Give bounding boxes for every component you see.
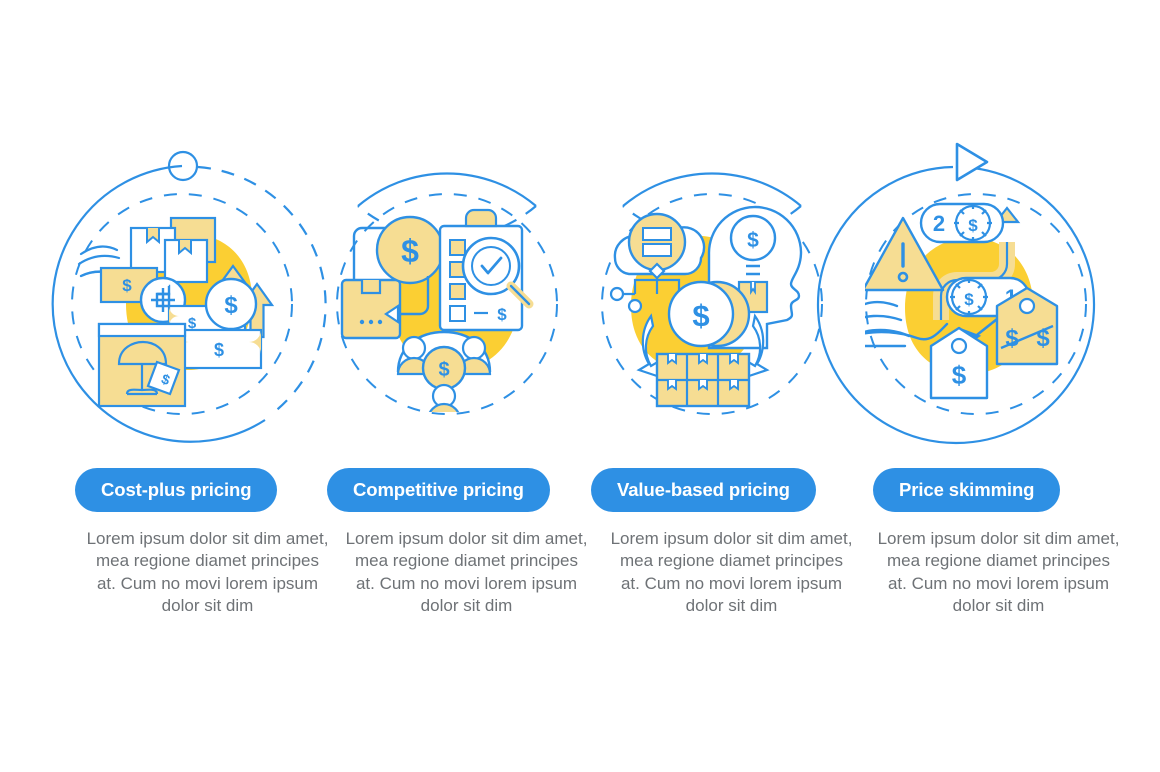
- coins-dollar-glyph: $: [692, 298, 709, 333]
- step-2-ring-wrap: $ $: [302, 158, 592, 450]
- person-head-left: [403, 337, 425, 359]
- steps-container: $ $ $: [0, 0, 1160, 772]
- product-box-lid: [99, 324, 185, 336]
- clipboard-dollar-glyph: $: [497, 305, 507, 324]
- node-mid-left: [629, 300, 641, 312]
- person-body-bottom: [428, 404, 460, 412]
- node-left: [611, 288, 623, 300]
- value-based-pricing-illustration: $ $: [601, 196, 823, 412]
- head-dollar-glyph: $: [747, 229, 759, 252]
- step-2-description: Lorem ipsum dolor sit dim amet, mea regi…: [344, 528, 589, 618]
- server-rack-top: [643, 228, 671, 240]
- person-head-right: [463, 337, 485, 359]
- play-triangle-marker-icon: [957, 144, 987, 180]
- checkbox-1: [450, 240, 465, 255]
- step-3-label-pill[interactable]: Value-based pricing: [591, 468, 816, 512]
- parcel-flap-icon: [362, 280, 380, 293]
- step-4-label-pill[interactable]: Price skimming: [873, 468, 1060, 512]
- step-3-description: Lorem ipsum dolor sit dim amet, mea regi…: [609, 528, 854, 618]
- price-skimming-illustration: 2 $ 1 $: [865, 196, 1087, 412]
- tag-hole-white: [952, 339, 966, 353]
- checkbox-3: [450, 284, 465, 299]
- dollar-glyph: $: [122, 276, 132, 295]
- step-item-4[interactable]: 2 $ 1 $: [831, 0, 1121, 772]
- step-3-ring-wrap: $ $: [567, 158, 857, 450]
- step-item-1[interactable]: $ $ $: [37, 0, 327, 772]
- parcel-dot-3: [378, 320, 382, 324]
- parcel-dot-2: [369, 320, 373, 324]
- competitive-pricing-illustration: $ $: [336, 196, 558, 412]
- checkbox-4: [450, 306, 465, 321]
- svg-text:$: $: [968, 216, 978, 235]
- step-1-description: Lorem ipsum dolor sit dim amet, mea regi…: [85, 528, 330, 618]
- step-1-ring-wrap: $ $ $: [37, 158, 327, 450]
- step-2-label-pill[interactable]: Competitive pricing: [327, 468, 550, 512]
- clipboard-clip-icon: [466, 210, 496, 226]
- step-item-3[interactable]: $ $ Value-based prici: [567, 0, 857, 772]
- svg-text:$: $: [964, 290, 974, 309]
- tag-dollar-glyph: $: [952, 360, 967, 390]
- tag-hole-crossed: [1020, 299, 1034, 313]
- crossed-dollar-1: $: [1005, 325, 1019, 352]
- badge-number-2: 2: [933, 211, 945, 236]
- open-hand-fingers: [865, 302, 909, 336]
- parcel-dot-1: [360, 320, 364, 324]
- cost-plus-pricing-illustration: $ $ $: [71, 196, 293, 412]
- center-dollar-glyph: $: [438, 359, 449, 381]
- banknote-front-dollar-glyph: $: [214, 340, 224, 360]
- head-box-flap: [751, 282, 755, 292]
- step-4-description: Lorem ipsum dolor sit dim amet, mea regi…: [876, 528, 1121, 618]
- infographic-canvas: $ $ $: [0, 0, 1160, 772]
- server-badge-icon: [629, 214, 685, 270]
- coin-dollar-glyph: $: [224, 292, 238, 319]
- step-4-ring-wrap: 2 $ 1 $: [831, 158, 1121, 450]
- step-item-2[interactable]: $ $: [302, 0, 592, 772]
- coin-dollar-glyph: $: [401, 233, 419, 269]
- server-rack-bottom: [643, 244, 671, 256]
- step-1-label-pill[interactable]: Cost-plus pricing: [75, 468, 277, 512]
